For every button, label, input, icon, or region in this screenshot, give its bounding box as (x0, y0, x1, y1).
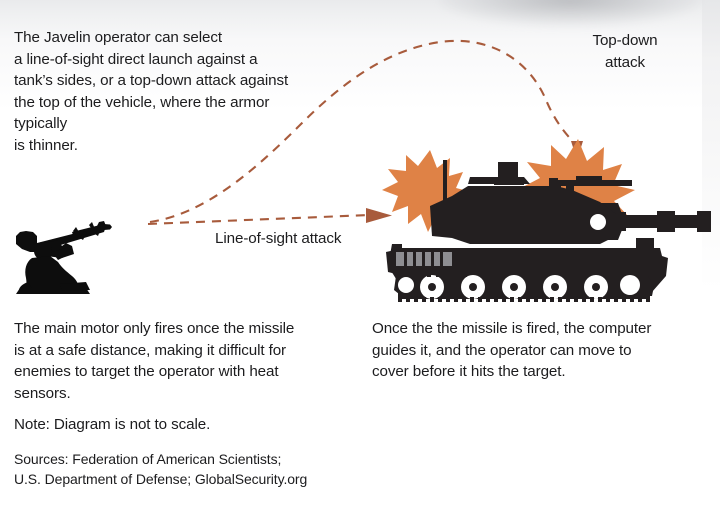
background-right-band (702, 0, 720, 300)
javelin-operator-silhouette (16, 221, 106, 294)
tank-road-wheels (398, 275, 640, 299)
turret-ring-detail (590, 214, 606, 230)
scale-note: Note: Diagram is not to scale. (14, 414, 354, 436)
rear-grille-detail (396, 252, 452, 266)
trajectory-arrowhead-side (366, 208, 392, 223)
tank-antenna (443, 160, 447, 205)
trajectory-arrowhead-top (571, 141, 583, 160)
track-teeth (398, 297, 650, 302)
background-smudge (440, 0, 700, 26)
explosion-burst-top (519, 139, 635, 241)
top-down-attack-label: Top-down attack (565, 30, 685, 74)
commander-periscope (498, 162, 518, 180)
guidance-paragraph: Once the the missile is fired, the compu… (372, 318, 702, 383)
main-motor-paragraph: The main motor only fires once the missi… (14, 318, 354, 404)
line-of-sight-attack-label: Line-of-sight attack (215, 228, 415, 250)
tank-main-gun (612, 215, 710, 228)
missile-in-flight (72, 222, 112, 240)
javelin-attack-infographic: The Javelin operator can select a line-o… (0, 0, 720, 505)
dashed-direct-path (148, 215, 370, 224)
sources-credit: Sources: Federation of American Scientis… (14, 450, 374, 489)
tank-machine-gun (545, 176, 632, 198)
intro-paragraph: The Javelin operator can select a line-o… (14, 27, 344, 156)
tank-silhouette (386, 160, 711, 302)
explosion-burst-side (382, 150, 472, 232)
